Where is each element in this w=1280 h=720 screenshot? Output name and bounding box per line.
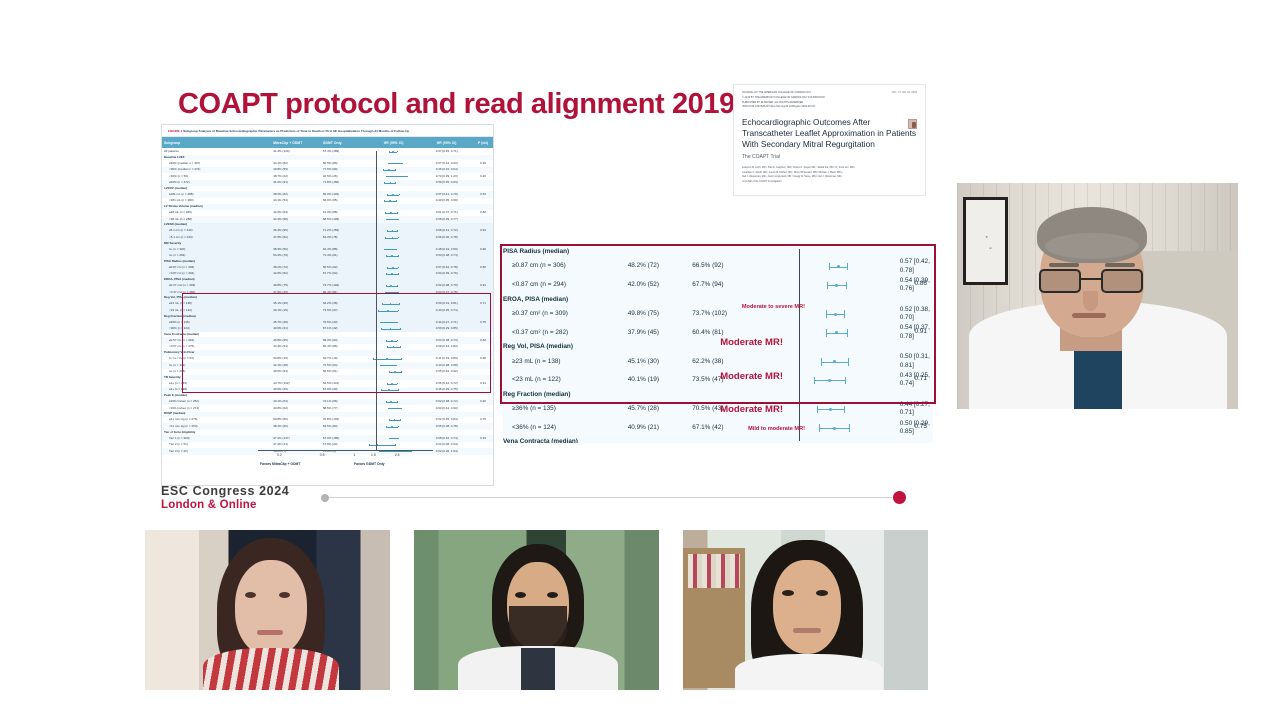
cell-empty — [757, 390, 800, 400]
ci-cap-low — [389, 371, 390, 373]
cell-mitraclip: 42.0% (52) — [628, 276, 693, 295]
cell-forest-plot — [800, 305, 886, 324]
participant-1-eye-right — [279, 592, 290, 598]
participant-2-eye-right — [547, 592, 558, 598]
ci-cap-high — [397, 151, 398, 153]
participant-1-video[interactable] — [145, 530, 390, 690]
ci-cap-low — [829, 263, 830, 270]
ci-cap-high — [399, 303, 400, 305]
magnified-table-row: ≥36% (n = 135)45.7% (28)70.5% (43)0.44 [… — [503, 400, 933, 419]
participant-1-eye-left — [245, 592, 256, 598]
ci-cap-low — [386, 255, 387, 257]
progress-dot-inactive[interactable] — [321, 494, 329, 502]
ci-line — [369, 445, 395, 446]
cell-subgroup: ≥0.37 cm² (n = 309) — [503, 305, 628, 324]
ci-cap-low — [386, 176, 387, 178]
col-mitraclip: MitraClip + GDMT — [271, 137, 321, 148]
participant-3-eye-left — [782, 590, 794, 596]
figure-caption: FIGURE 1 Subgroup Analysis of Baseline E… — [162, 125, 493, 137]
cell-empty — [628, 342, 693, 352]
ci-cap-low — [387, 267, 388, 269]
point-estimate — [392, 151, 394, 153]
ci-cap-high — [401, 358, 402, 360]
ci-cap-high — [398, 255, 399, 257]
wall-picture-frame — [963, 197, 1008, 285]
ci-cap-low — [382, 303, 383, 305]
cell-hr-ci: 0.52 [0.38, 0.70]0.91 — [886, 305, 933, 324]
ci-cap-low — [387, 230, 388, 232]
magnified-table-row: ≥0.37 cm² (n = 309)49.8% (75)73.7% (102)… — [503, 305, 933, 324]
ci-cap-high — [399, 194, 400, 196]
ci-cap-high — [398, 273, 399, 275]
screen-root: COAPT protocol and read alignment 2019 F… — [0, 0, 1280, 720]
point-estimate — [387, 310, 389, 312]
cell-hr-ci: 0.50 [0.31, 0.81]0.71 — [886, 352, 933, 371]
ci-cap-high — [401, 371, 402, 373]
progress-dot-active[interactable] — [893, 491, 906, 504]
cell-gdmt: 62.2% (38) — [692, 352, 757, 371]
ci-cap-high — [400, 419, 401, 421]
axis-tick: 1.5 — [371, 453, 376, 457]
journal-article-subtitle: The COAPT Trial — [742, 154, 917, 160]
axis-tick: 2.5 — [395, 453, 400, 457]
cell-mitraclip: 45.7% (28) — [628, 400, 693, 419]
point-estimate — [388, 389, 390, 391]
mr-severity-annotation: Mild to moderate MR! — [748, 426, 805, 432]
axis-label-left: Favors MitraClip + GDMT — [260, 462, 300, 466]
cell-gdmt: 67.1% (42) — [692, 419, 757, 438]
cell-p-interaction: 0.86 — [915, 280, 927, 288]
ci-cap-low — [817, 406, 818, 413]
ci-cap-low — [385, 212, 386, 214]
reference-line-magnified — [799, 249, 800, 441]
ci-cap-low — [385, 292, 386, 294]
mr-severity-annotation: Moderate to severe MR! — [742, 304, 805, 310]
journal-article-header: VOL. 74, NO. 24, 2019 JOURNAL OF THE AME… — [733, 84, 926, 196]
cell-forest-plot — [800, 324, 886, 343]
ci-cap-low — [821, 358, 822, 365]
ci-cap-high — [398, 389, 399, 391]
magnified-group-label: Reg Vol, PISA (median) — [503, 342, 628, 352]
ci-cap-high — [395, 444, 396, 446]
magnified-group-row: Vena Contracta (median) — [503, 437, 933, 443]
col-hr-plot: HR (95% CI) — [367, 137, 420, 148]
ci-cap-high — [396, 249, 397, 251]
ci-cap-high — [398, 292, 399, 294]
participant-3-torso — [735, 654, 883, 690]
col-hr-ci: HR (95% CI) — [420, 137, 473, 148]
magnified-group-label: EROA, PISA (median) — [503, 295, 628, 305]
cell-subgroup: <36% (n = 124) — [503, 419, 628, 438]
cell-empty — [886, 295, 933, 305]
ci-cap-high — [397, 230, 398, 232]
ci-cap-low — [388, 163, 389, 165]
ci-cap-low — [386, 401, 387, 403]
cell-empty — [757, 247, 800, 257]
point-estimate — [387, 322, 389, 324]
ci-cap-high — [844, 406, 845, 413]
ci-cap-high — [397, 340, 398, 342]
ci-cap-low — [380, 322, 381, 324]
magnified-table-row: ≥0.87 cm (n = 306)48.2% (72)66.5% (92)0.… — [503, 257, 933, 276]
point-estimate — [391, 292, 393, 294]
ci-cap-high — [398, 219, 399, 221]
cell-subgroup: <0.87 cm (n = 294) — [503, 276, 628, 295]
main-speaker-video[interactable] — [957, 183, 1238, 409]
ci-cap-high — [400, 328, 401, 330]
magnified-table-row: ≥23 mL (n = 138)45.1% (30)62.2% (38)0.50… — [503, 352, 933, 371]
point-estimate — [829, 408, 832, 411]
journal-volume: VOL. 74, NO. 24, 2019 — [892, 91, 917, 94]
point-estimate — [834, 313, 837, 316]
axis-tick: 0.5 — [320, 453, 325, 457]
cell-empty — [800, 247, 886, 257]
ci-cap-low — [373, 358, 374, 360]
speaker-hair — [1037, 207, 1147, 263]
participant-thumbnail-strip — [145, 530, 942, 690]
point-estimate — [835, 331, 838, 334]
point-estimate — [389, 200, 391, 202]
ci-cap-high — [398, 237, 399, 239]
magnified-group-row: Reg Fraction (median) — [503, 390, 933, 400]
point-estimate — [391, 426, 393, 428]
ci-cap-high — [396, 365, 397, 367]
speaker-brow-left — [1049, 263, 1079, 267]
ci-cap-low — [386, 285, 387, 287]
cell-p-interaction — [473, 448, 493, 455]
point-estimate — [837, 265, 840, 268]
col-pint: P (int) — [473, 137, 493, 148]
eyeglass-bridge — [1081, 278, 1101, 280]
figure-caption-text: Subgroup Analysis of Baseline Echocardio… — [183, 129, 409, 133]
ci-cap-high — [847, 263, 848, 270]
cell-mitraclip: 45.1% (30) — [628, 352, 693, 371]
cell-annotation-spacer — [757, 257, 800, 276]
cell-forest-plot — [800, 352, 886, 371]
speaker-mouth — [1072, 313, 1106, 318]
forest-axis-left: 0.20.511.52.5 Favors MitraClip + GDMT Fa… — [258, 450, 433, 472]
ci-cap-low — [378, 310, 379, 312]
cell-empty — [886, 390, 933, 400]
point-estimate — [389, 249, 391, 251]
point-estimate — [392, 194, 394, 196]
point-estimate — [833, 427, 836, 430]
magnified-group-row: Reg Vol, PISA (median) — [503, 342, 933, 352]
ci-cap-high — [395, 182, 396, 184]
mr-severity-annotation: Moderate MR! — [720, 337, 783, 348]
progress-rule — [321, 497, 892, 498]
ci-cap-high — [400, 346, 401, 348]
participant-3-face — [773, 560, 841, 654]
cell-empty — [800, 342, 886, 352]
point-estimate — [390, 212, 392, 214]
cell-forest-plot — [800, 371, 886, 390]
ci-cap-low — [387, 383, 388, 385]
ci-cap-low — [387, 194, 388, 196]
participant-3-video[interactable] — [683, 530, 928, 690]
axis-label-right: Favors GDMT Only — [354, 462, 385, 466]
cell-subgroup: ≥23 mL (n = 138) — [503, 352, 628, 371]
cell-forest-plot — [800, 276, 886, 295]
mr-severity-annotation: Moderate MR! — [720, 371, 783, 382]
participant-2-video[interactable] — [414, 530, 659, 690]
cell-empty — [800, 295, 886, 305]
ci-cap-low — [380, 365, 381, 367]
journal-article-title: Echocardiographic Outcomes After Transca… — [742, 117, 917, 150]
axis-tick: 0.2 — [277, 453, 282, 457]
ci-cap-low — [826, 310, 827, 317]
subgroup-table-head: Subgroup MitraClip + GDMT GDMT Only HR (… — [162, 137, 493, 148]
magnified-table-row: <0.87 cm (n = 294)42.0% (52)67.7% (94)0.… — [503, 276, 933, 295]
cell-empty — [628, 437, 693, 443]
subgroup-table: Subgroup MitraClip + GDMT GDMT Only HR (… — [162, 137, 493, 454]
point-estimate — [395, 163, 397, 165]
cell-gdmt: 67.7% (94) — [692, 276, 757, 295]
cell-empty — [628, 390, 693, 400]
ci-cap-low — [384, 182, 385, 184]
magnified-table-row: <0.37 cm² (n = 282)37.9% (45)60.4% (81)0… — [503, 324, 933, 343]
magnified-table: PISA Radius (median)≥0.87 cm (n = 306)48… — [503, 247, 933, 443]
journal-author-line: on behalf of the COAPT Investigators — [742, 180, 917, 185]
cell-empty — [692, 390, 757, 400]
cell-hr-ci: 0.44 [0.27, 0.71]0.75 — [886, 400, 933, 419]
cell-empty — [886, 247, 933, 257]
point-estimate — [391, 340, 393, 342]
table-header-row: Subgroup MitraClip + GDMT GDMT Only HR (… — [162, 137, 493, 148]
ci-cap-low — [381, 389, 382, 391]
reference-line-left — [376, 151, 377, 451]
ci-cap-high — [395, 169, 396, 171]
magnified-table-row: <23 mL (n = 122)40.1% (19)73.5% (47)0.43… — [503, 371, 933, 390]
figure-left-forest-table: FIGURE 1 Subgroup Analysis of Baseline E… — [161, 124, 494, 486]
ci-cap-high — [401, 408, 402, 410]
cell-subgroup: <23 mL (n = 122) — [503, 371, 628, 390]
magnified-table-body: PISA Radius (median)≥0.87 cm (n = 306)48… — [503, 247, 933, 443]
ci-cap-high — [847, 329, 848, 336]
ci-cap-high — [397, 401, 398, 403]
speaker-nose — [1083, 291, 1098, 311]
cell-empty — [692, 437, 757, 443]
ci-cap-high — [396, 200, 397, 202]
point-estimate — [394, 371, 396, 373]
axis-tick-labels: 0.20.511.52.5 — [258, 450, 433, 458]
cell-gdmt: 66.5% (92) — [692, 257, 757, 276]
ci-cap-low — [381, 328, 382, 330]
presentation-slide[interactable]: COAPT protocol and read alignment 2019 F… — [145, 80, 942, 528]
ci-cap-high — [397, 212, 398, 214]
point-estimate — [388, 169, 390, 171]
ci-cap-low — [819, 424, 820, 431]
point-estimate — [392, 267, 394, 269]
ci-cap-low — [369, 444, 370, 446]
point-estimate — [835, 284, 838, 287]
ci-cap-high — [402, 163, 403, 165]
magnified-subgroup-table: PISA Radius (median)≥0.87 cm (n = 306)48… — [503, 247, 933, 443]
ci-cap-high — [849, 424, 850, 431]
cell-empty — [886, 342, 933, 352]
point-estimate — [394, 408, 396, 410]
journal-meta-line: ISSN 0735-1097/$36.00 https://doi.org/10… — [742, 105, 917, 110]
ci-cap-low — [389, 419, 390, 421]
point-estimate — [828, 379, 831, 382]
cell-p-interaction: 0.71 — [915, 375, 927, 383]
ci-cap-high — [398, 438, 399, 440]
participant-1-mouth — [257, 630, 283, 635]
esc-footer: ESC Congress 2024 London & Online — [161, 484, 926, 518]
cell-empty — [757, 437, 800, 443]
ci-cap-low — [814, 377, 815, 384]
ci-cap-low — [383, 169, 384, 171]
document-badge-icon — [908, 119, 917, 129]
participant-1-torso — [203, 648, 339, 690]
participant-3-mouth — [793, 628, 821, 633]
speaker-brow-right — [1105, 263, 1135, 267]
cell-annotation-spacer — [757, 352, 800, 371]
cell-subgroup: Tier 3 (n = 22) — [162, 448, 271, 455]
ci-cap-high — [407, 176, 408, 178]
participant-1-face — [235, 560, 307, 656]
cell-empty — [692, 247, 757, 257]
ci-cap-low — [389, 151, 390, 153]
point-estimate — [833, 360, 836, 363]
magnified-group-label: Vena Contracta (median) — [503, 437, 628, 443]
point-estimate — [392, 438, 394, 440]
magnified-group-label: PISA Radius (median) — [503, 247, 628, 257]
magnified-group-label: Reg Fraction (median) — [503, 390, 628, 400]
participant-2-torso — [458, 646, 618, 690]
eyeglass-lens-right — [1101, 269, 1143, 293]
cell-empty — [628, 295, 693, 305]
slide-progress-track[interactable] — [321, 492, 906, 504]
ci-cap-low — [387, 346, 388, 348]
ci-cap-low — [388, 408, 389, 410]
mr-severity-annotation: Moderate MR! — [720, 404, 783, 415]
magnified-group-row: PISA Radius (median) — [503, 247, 933, 257]
cell-forest-plot — [800, 419, 886, 438]
journal-author-list: Federico M. Asch, MD,ᵃ Paul A. Grayburn,… — [742, 166, 917, 185]
ci-cap-high — [846, 282, 847, 289]
col-gdmt: GDMT Only — [321, 137, 367, 148]
cell-mitraclip: 40.9% (21) — [628, 419, 693, 438]
ci-cap-high — [398, 267, 399, 269]
speaker-eyeglasses — [1039, 269, 1143, 293]
participant-3-eye-right — [816, 590, 828, 596]
magnified-table-row: <36% (n = 124)40.9% (21)67.1% (42)0.50 [… — [503, 419, 933, 438]
cell-hr-ci: 0.57 [0.42, 0.78]0.86 — [886, 257, 933, 276]
cell-subgroup: ≥36% (n = 135) — [503, 400, 628, 419]
col-subgroup: Subgroup — [162, 137, 271, 148]
cell-annotation-spacer — [757, 276, 800, 295]
ci-cap-high — [397, 285, 398, 287]
cell-p-interaction: 0.75 — [915, 423, 927, 431]
cell-subgroup: ≥0.87 cm (n = 306) — [503, 257, 628, 276]
cell-forest-plot — [800, 400, 886, 419]
point-estimate — [391, 255, 393, 257]
point-estimate — [391, 273, 393, 275]
ci-cap-high — [844, 310, 845, 317]
ci-cap-high — [848, 358, 849, 365]
eyeglass-lens-left — [1039, 269, 1081, 293]
point-estimate — [386, 358, 388, 360]
ci-cap-low — [389, 438, 390, 440]
cell-mitraclip: 48.2% (72) — [628, 257, 693, 276]
ci-cap-low — [386, 219, 387, 221]
cell-mitraclip: 40.1% (19) — [628, 371, 693, 390]
ci-cap-high — [398, 310, 399, 312]
participant-2-eye-left — [515, 592, 526, 598]
cell-subgroup: <0.37 cm² (n = 282) — [503, 324, 628, 343]
ci-cap-low — [386, 273, 387, 275]
ci-cap-low — [384, 249, 385, 251]
subgroup-table-body: All patients41.4% (129)57.4% (189)0.57 [… — [162, 148, 493, 454]
magnified-group-row: EROA, PISA (median) — [503, 295, 933, 305]
cell-mitraclip: 37.9% (45) — [628, 324, 693, 343]
cell-forest-plot — [800, 257, 886, 276]
ci-cap-low — [386, 426, 387, 428]
ci-cap-low — [826, 329, 827, 336]
point-estimate — [391, 383, 393, 385]
ci-cap-low — [384, 200, 385, 202]
cell-empty — [628, 247, 693, 257]
axis-tick: 1 — [354, 453, 356, 457]
cell-empty — [800, 437, 886, 443]
figure-number: FIGURE 1 — [168, 129, 182, 133]
ci-cap-high — [397, 322, 398, 324]
ci-cap-low — [827, 282, 828, 289]
ci-cap-high — [398, 426, 399, 428]
cell-empty — [886, 437, 933, 443]
ci-cap-low — [385, 237, 386, 239]
cell-p-interaction: 0.91 — [915, 328, 927, 336]
cell-mitraclip: 49.8% (75) — [628, 305, 693, 324]
point-estimate — [387, 365, 389, 367]
point-estimate — [392, 219, 394, 221]
cell-empty — [800, 390, 886, 400]
ci-cap-low — [386, 340, 387, 342]
ci-cap-high — [845, 377, 846, 384]
ci-cap-high — [397, 383, 398, 385]
